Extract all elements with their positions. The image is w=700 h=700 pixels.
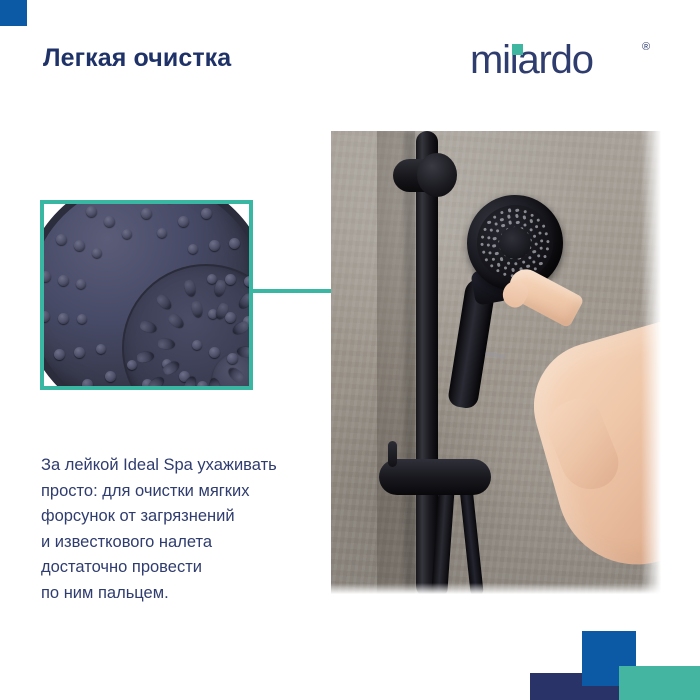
corner-accent-square: [0, 0, 27, 26]
nozzle-dot: [545, 232, 549, 236]
nozzle-dot: [514, 262, 518, 266]
shower-riser-rail: [416, 131, 438, 597]
nozzle-dot: [532, 250, 536, 254]
nozzle-dot: [539, 262, 543, 266]
body-line: достаточно провести: [41, 555, 327, 581]
nozzle-dot: [485, 258, 489, 262]
nozzle-dot: [490, 264, 494, 268]
infographic-page: Легкая очистка milardo ® За лейкой Ideal…: [0, 0, 700, 700]
nozzle-dot: [516, 220, 520, 224]
nozzle-dot: [503, 273, 507, 277]
nozzle-dot: [537, 254, 541, 258]
nozzle-dot: [489, 228, 493, 232]
nozzle-dot: [534, 242, 538, 246]
brand-wordmark: milardo: [470, 38, 593, 82]
nozzle-dot: [545, 247, 549, 251]
body-line: форсунок от загрязнений: [41, 504, 327, 530]
nozzle-dot: [483, 227, 487, 231]
upper-bracket-cap: [417, 153, 457, 197]
nozzle-dot: [528, 256, 532, 260]
nozzle: [188, 244, 198, 254]
body-line: просто: для очистки мягких: [41, 479, 327, 505]
detail-inset-frame: [40, 200, 253, 390]
page-title: Легкая очистка: [43, 44, 231, 73]
nozzle: [54, 349, 65, 360]
product-photo: [331, 131, 669, 597]
nozzle: [209, 240, 220, 251]
nozzle-dot: [500, 218, 504, 222]
nozzle: [197, 381, 208, 386]
nozzle-dot: [492, 244, 496, 248]
nozzle-dot: [529, 219, 533, 223]
nozzle-dot: [507, 215, 511, 219]
nozzle: [96, 344, 106, 354]
brand-accent-dot-icon: [512, 44, 523, 55]
holder-pin: [388, 441, 397, 467]
nozzle-dot: [496, 269, 500, 273]
nozzle-dot: [523, 210, 527, 214]
nozzle: [86, 206, 97, 217]
nozzle-dot: [540, 239, 544, 243]
body-line: и известкового налета: [41, 530, 327, 556]
nozzle-dot: [494, 222, 498, 226]
nozzle-dot: [501, 224, 505, 228]
nozzle: [105, 371, 116, 382]
nozzle-dot: [488, 251, 492, 255]
nozzle-dot: [515, 208, 519, 212]
nozzle: [141, 208, 152, 219]
nozzle-dot: [504, 266, 508, 270]
photo-bottom-fade: [331, 583, 669, 597]
nozzle-dot: [487, 221, 491, 225]
nozzle-dot: [496, 229, 500, 233]
nozzle-dot: [487, 236, 491, 240]
nozzle-dot: [541, 224, 545, 228]
nozzle: [122, 229, 132, 239]
nozzle-dot: [511, 268, 515, 272]
nozzle-dot: [492, 257, 496, 261]
nozzle-dot: [480, 243, 484, 247]
nozzle-dot: [481, 235, 485, 239]
nozzle-dot: [529, 228, 533, 232]
handset-center-hub: [499, 227, 531, 259]
nozzle: [104, 216, 115, 227]
nozzle-dot: [522, 216, 526, 220]
nozzle-dot: [533, 234, 537, 238]
nozzle-dot: [481, 251, 485, 255]
nozzle-dot: [530, 213, 534, 217]
body-line: За лейкой Ideal Spa ухаживать: [41, 453, 327, 479]
nozzle: [58, 313, 69, 324]
nozzle-dot: [500, 257, 504, 261]
nozzle-dot: [522, 260, 526, 264]
nozzle: [244, 276, 249, 287]
nozzle: [227, 353, 238, 364]
photo-right-fade: [641, 131, 669, 597]
nozzle: [76, 279, 86, 289]
nozzle-dot: [508, 221, 512, 225]
nozzle-dot: [540, 247, 544, 251]
nozzle-dot: [500, 211, 504, 215]
registered-trademark-icon: ®: [642, 41, 650, 53]
nozzle-dot: [497, 263, 501, 267]
body-line: по ним пальцем.: [41, 581, 327, 607]
nozzle-dot: [507, 209, 511, 213]
nozzle: [157, 228, 167, 238]
nozzle-dot: [493, 236, 497, 240]
nozzle: [92, 248, 102, 258]
nozzle: [82, 379, 93, 386]
nozzle-dot: [537, 218, 541, 222]
nozzle-dot: [523, 223, 527, 227]
nozzle-dot: [535, 225, 539, 229]
decor-teal-block: [619, 666, 700, 700]
nozzle-dot: [538, 231, 542, 235]
nozzle-dot: [546, 239, 550, 243]
nozzle-dot: [506, 261, 510, 265]
detail-inset-photo: [44, 204, 249, 386]
nozzle-dot: [515, 214, 519, 218]
nozzle-dot: [493, 215, 497, 219]
nozzle-dot: [495, 251, 499, 255]
body-paragraph: За лейкой Ideal Spa ухаживать просто: дл…: [41, 453, 327, 606]
nozzle: [209, 347, 220, 358]
nozzle-dot: [526, 265, 530, 269]
brand-logo: milardo ®: [470, 39, 593, 81]
nozzle-dot: [486, 243, 490, 247]
nozzle-dot: [543, 255, 547, 259]
nozzle-dot: [532, 260, 536, 264]
nozzle: [58, 275, 69, 286]
